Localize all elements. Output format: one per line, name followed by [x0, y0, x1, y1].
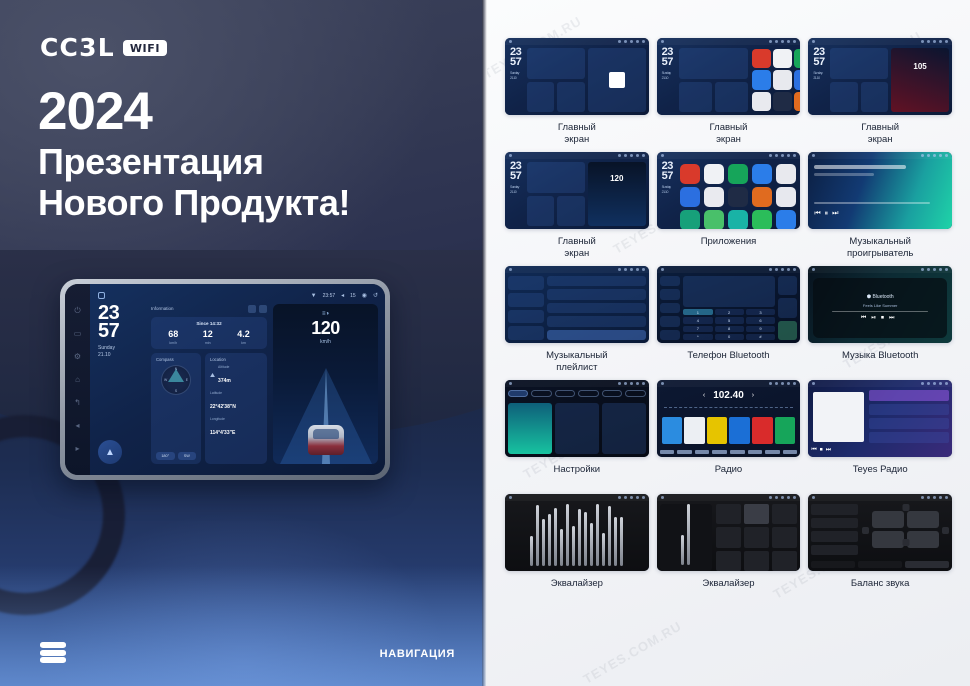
thumb-clock-hours: 23 57 Sunday21.10 [508, 162, 524, 195]
home-icon [661, 496, 664, 499]
app-icon [752, 164, 772, 184]
navigation-label: НАВИГАЦИЯ [380, 648, 455, 660]
dial-key[interactable]: 0 [715, 334, 744, 340]
eq-preset-button[interactable] [772, 551, 797, 571]
radio-frequency: 102.40 [713, 390, 744, 401]
home-button[interactable]: ⌂ [73, 375, 82, 384]
dial-key[interactable]: * [683, 334, 712, 340]
gps-icon [787, 382, 790, 385]
radio-toolbar-icon[interactable] [748, 450, 763, 454]
stat-unit: min [203, 341, 213, 345]
gallery-item[interactable]: Эквалайзер [505, 494, 649, 602]
favorites-icon[interactable] [778, 276, 797, 295]
wifi-badge: WIFI [123, 40, 167, 56]
playlist-category[interactable] [508, 310, 544, 324]
volume-icon [781, 496, 784, 499]
longitude-label: Longitude [210, 417, 262, 421]
volume-down-button[interactable]: ◂ [73, 421, 82, 430]
back-arrow-icon [642, 496, 645, 499]
settings-tab[interactable] [602, 390, 622, 397]
playlist-category[interactable] [508, 293, 544, 307]
gallery-item[interactable]: ⬢ Bluetooth Feels Like Summer ⏮⏯⏹⏭ Музык… [808, 266, 952, 374]
gallery-item[interactable]: 23 57 Sunday21.10 120 Главныйэкран [505, 152, 649, 260]
eq-tab[interactable] [811, 561, 855, 568]
wifi-icon [769, 40, 772, 43]
playback-controls[interactable]: ⏮⏯⏹⏭ [861, 315, 900, 322]
dial-key[interactable]: # [746, 334, 775, 340]
eq-preset-button[interactable] [716, 527, 741, 547]
eq-band[interactable] [554, 508, 557, 566]
thumb-clock-sub: Sunday21.10 [813, 71, 827, 81]
clock-icon [927, 268, 930, 271]
wifi-tile[interactable] [508, 403, 552, 454]
gps-icon [636, 154, 639, 157]
stat-value: 12 [203, 330, 213, 339]
eq-preset-button[interactable] [772, 527, 797, 547]
gallery-item[interactable]: Настройки [505, 380, 649, 488]
equalizer-bands[interactable] [508, 504, 646, 571]
eq-band[interactable] [608, 506, 611, 566]
location-widget[interactable]: Location ⛰ Altitude 374m [205, 353, 267, 464]
dialer-side-icon[interactable] [660, 303, 681, 313]
thumb-status-bar [657, 266, 801, 273]
clock-icon [624, 154, 627, 157]
thumb-status-bar [657, 152, 801, 159]
thumb-status-bar [505, 380, 649, 387]
screenshot-thumbnail[interactable]: ‹ 102.40 › [657, 380, 801, 457]
eq-preset-button[interactable] [744, 527, 769, 547]
home-icon [509, 40, 512, 43]
app-icon [773, 92, 792, 111]
volume-icon [933, 382, 936, 385]
dialer-side-icon[interactable] [660, 316, 681, 326]
wifi-icon [769, 154, 772, 157]
thumb-clock-sub: Sunday21.10 [510, 71, 524, 81]
app-icon [773, 70, 792, 89]
gps-icon [939, 496, 942, 499]
clock-icon [775, 154, 778, 157]
app-icon [794, 92, 800, 111]
thumb-status-icons [769, 268, 796, 271]
prev-station-button[interactable]: ‹ [703, 392, 705, 399]
eq-band[interactable] [614, 517, 617, 566]
headline-line1: Презентация [38, 142, 458, 183]
settings-tab[interactable] [531, 390, 551, 397]
station-row[interactable] [869, 404, 949, 415]
gallery-item[interactable]: ⏮⏹⏭ Teyes Радио [808, 380, 952, 488]
screenshot-thumbnail[interactable]: 23 57 Sunday21.10 [657, 38, 801, 115]
gps-icon [787, 268, 790, 271]
status-bar-right: ▼ 23:57 ◂ 15 ◉ ↺ [311, 292, 378, 299]
thumb-status-icons [921, 154, 948, 157]
app-icon [728, 187, 748, 207]
playback-controls[interactable]: ⏮⏹⏭ [811, 447, 866, 454]
screenshot-thumbnail[interactable]: 23 57 Sunday21.10 [657, 152, 801, 229]
thumb-clock: 23 57 Sunday21.10 [508, 48, 524, 112]
now-playing-bar[interactable] [547, 330, 646, 340]
gallery-item[interactable]: 23 57 Sunday21.10 105 Главныйэкран [808, 38, 952, 146]
wifi-hotspot-tile[interactable] [555, 403, 599, 454]
dial-key[interactable]: 1 [683, 309, 712, 315]
back-arrow-icon [945, 382, 948, 385]
mute-button[interactable]: ▭ [73, 329, 82, 338]
playback-controls[interactable]: ⏮⏸⏭ [814, 210, 946, 218]
back-arrow-icon [945, 268, 948, 271]
gallery-item[interactable]: Баланс звука [808, 494, 952, 602]
location-title: Location [210, 357, 262, 362]
home-icon [661, 382, 664, 385]
progress-bar[interactable] [814, 202, 930, 204]
eq-band[interactable] [578, 509, 581, 565]
thumbnail-caption: Приложения [701, 236, 757, 260]
bt-track: Feels Like Summer [863, 303, 897, 308]
clock-icon [775, 268, 778, 271]
volume-icon [630, 382, 633, 385]
eq-preset-button[interactable] [744, 504, 769, 524]
dialer-side-icon[interactable] [660, 289, 681, 299]
radio-toolbar-icon[interactable] [730, 450, 745, 454]
home-icon [812, 154, 815, 157]
back-arrow-icon [945, 40, 948, 43]
playlist-category[interactable] [508, 276, 544, 290]
dialer-number-field[interactable] [683, 276, 775, 307]
back-arrow-icon [793, 154, 796, 157]
eq-tab[interactable] [905, 561, 949, 568]
screenshot-thumbnail[interactable]: 23 57 Sunday21.10 [505, 38, 649, 115]
compass-dial: N E S W [161, 365, 191, 395]
balance-up-button[interactable] [902, 504, 909, 511]
altitude-value: 374m [218, 378, 231, 384]
station-preset[interactable] [684, 417, 705, 444]
wifi-icon [618, 154, 621, 157]
gallery-item[interactable]: Эквалайзер [657, 494, 801, 602]
screenshot-thumbnail[interactable] [505, 494, 649, 571]
compass-widget[interactable]: Compass N E S W 180° [151, 353, 201, 464]
gallery-item[interactable]: ‹ 102.40 › Радио [657, 380, 801, 488]
station-preset[interactable] [775, 417, 796, 444]
head-unit-display[interactable]: ▼ 23:57 ◂ 15 ◉ ↺ 23 57 Sunday [90, 284, 385, 475]
home-icon [812, 496, 815, 499]
eq-band[interactable] [590, 523, 593, 566]
eq-band[interactable] [681, 535, 684, 565]
eq-band[interactable] [548, 514, 551, 566]
balance-preset[interactable] [811, 504, 858, 515]
playlist-track-row[interactable] [547, 276, 646, 286]
station-preset[interactable] [707, 417, 728, 444]
home-icon [661, 154, 664, 157]
radio-toolbar-icon[interactable] [712, 450, 727, 454]
balance-preset[interactable] [811, 518, 858, 529]
sync-contacts-icon[interactable] [778, 298, 797, 317]
dial-key[interactable]: 9 [746, 326, 775, 332]
hero-panel: CC3L WIFI 2024 Презентация Нового Продук… [0, 0, 487, 686]
clock-icon [624, 496, 627, 499]
app-icon [794, 49, 800, 68]
station-preset[interactable] [729, 417, 750, 444]
navigation-arrow-icon[interactable]: ▲ [98, 440, 122, 464]
playlist-track-row[interactable] [547, 303, 646, 313]
gps-icon [939, 40, 942, 43]
compass-readouts: 180° SW [156, 452, 196, 460]
thumb-status-icons [921, 496, 948, 499]
station-preset[interactable] [752, 417, 773, 444]
screenshot-thumbnail[interactable]: ⏮⏸⏭ [808, 152, 952, 229]
dialer-side-icon[interactable] [660, 330, 681, 340]
thumbnail-caption: Радио [715, 464, 742, 488]
screenshot-thumbnail[interactable]: 23 57 Sunday21.10 105 [808, 38, 952, 115]
dial-key[interactable]: 2 [715, 309, 744, 315]
thumbnail-caption: Настройки [554, 464, 601, 488]
station-row[interactable] [869, 432, 949, 443]
thumb-status-icons [769, 154, 796, 157]
app-icon [680, 187, 700, 207]
call-button[interactable] [778, 321, 797, 340]
gallery-item[interactable]: 23 57 Sunday21.10 Главныйэкран [657, 38, 801, 146]
settings-tab[interactable] [578, 390, 598, 397]
dial-key[interactable]: 3 [746, 309, 775, 315]
thumbnail-caption: Главныйэкран [558, 122, 596, 146]
screenshot-thumbnail[interactable]: 23 57 Sunday21.10 120 [505, 152, 649, 229]
dial-key[interactable]: 8 [715, 326, 744, 332]
app-icon [773, 49, 792, 68]
eq-band[interactable] [566, 504, 569, 566]
clock-widget[interactable]: 23 57 Sunday 21.10 ▲ [98, 304, 145, 464]
track-title [814, 165, 906, 169]
settings-tab[interactable] [508, 390, 528, 397]
clock-icon [775, 382, 778, 385]
app-icon [776, 187, 796, 207]
eq-band[interactable] [572, 526, 575, 566]
eq-band[interactable] [542, 519, 545, 565]
trip-info-card[interactable]: Since 14:32 68 km/h 12 min [151, 317, 267, 349]
thumb-status-icons [618, 268, 645, 271]
logo-text: CC3L [40, 33, 115, 62]
thumbnail-grid: 23 57 Sunday21.10 Главныйэкран 23 57 Sun… [505, 38, 952, 602]
settings-tab[interactable] [625, 390, 645, 397]
radio-toolbar-icon[interactable] [695, 450, 710, 454]
app-icon [728, 164, 748, 184]
altitude-row: ⛰ Altitude 374m [210, 365, 262, 387]
thumbnail-caption: Музыкальныйплейлист [546, 350, 607, 374]
wifi-icon [921, 154, 924, 157]
radio-toolbar-icon[interactable] [660, 450, 675, 454]
station-row[interactable] [869, 390, 949, 401]
speaker-icon [872, 511, 904, 528]
eq-preset-button[interactable] [744, 551, 769, 571]
clock-icon [624, 382, 627, 385]
power-button[interactable]: ⏻ [73, 306, 82, 315]
gallery-item[interactable]: 23 57 Sunday21.10 Главныйэкран [505, 38, 649, 146]
more-tile[interactable] [602, 403, 646, 454]
compass-north-label: N [175, 367, 177, 371]
thumbnail-caption: Музыкальныйпроигрыватель [847, 236, 913, 260]
information-header: Information [151, 304, 267, 313]
station-preset[interactable] [662, 417, 683, 444]
dialer-side-icon[interactable] [660, 276, 681, 286]
watermark: TEYES.COM.RU [581, 618, 685, 686]
gallery-item[interactable]: 23 57 Sunday21.10 Приложения [657, 152, 801, 260]
eq-band[interactable] [620, 517, 623, 566]
dial-key[interactable]: 5 [715, 317, 744, 323]
wifi-icon [769, 496, 772, 499]
clock-icon [775, 496, 778, 499]
track-artist [814, 173, 873, 176]
balance-left-button[interactable] [862, 527, 869, 534]
expand-icon[interactable] [259, 305, 267, 313]
thumb-app-grid [679, 162, 798, 226]
screenshot-thumbnail[interactable]: ⬢ Bluetooth Feels Like Summer ⏮⏯⏹⏭ [808, 266, 952, 343]
thumb-status-bar [808, 494, 952, 501]
speaker-icon [872, 531, 904, 548]
eq-band[interactable] [584, 512, 587, 566]
playlist-track-row[interactable] [547, 316, 646, 326]
thumb-status-icons [769, 382, 796, 385]
gps-icon [636, 382, 639, 385]
thumb-status-icons [921, 40, 948, 43]
volume-icon [933, 40, 936, 43]
clock-icon [624, 40, 627, 43]
thumbnail-caption: Эквалайзер [551, 578, 603, 602]
thumbnail-caption: Баланс звука [851, 578, 910, 602]
home-icon [661, 268, 664, 271]
screenshot-thumbnail[interactable]: 1 2 3 4 5 6 7 8 9 * 0 # [657, 266, 801, 343]
screenshot-thumbnail[interactable]: ⏮⏹⏭ [808, 380, 952, 457]
back-arrow-icon [793, 496, 796, 499]
stat-unit: km [237, 341, 250, 345]
status-bar: ▼ 23:57 ◂ 15 ◉ ↺ [98, 290, 378, 301]
eq-band[interactable] [602, 533, 605, 566]
volume-icon [630, 154, 633, 157]
eq-band[interactable] [536, 505, 539, 566]
volume-icon [933, 496, 936, 499]
balance-down-button[interactable] [902, 539, 909, 546]
speaker-icon [907, 511, 939, 528]
home-icon [812, 382, 815, 385]
headline-line2: Нового Продукта! [38, 183, 458, 224]
wifi-icon [618, 268, 621, 271]
next-station-button[interactable]: › [752, 392, 754, 399]
station-row[interactable] [869, 418, 949, 429]
radio-toolbar-icon[interactable] [765, 450, 780, 454]
wifi-icon [618, 496, 621, 499]
playlist-track-row[interactable] [547, 289, 646, 299]
thumb-status-bar [808, 266, 952, 273]
balance-preset[interactable] [811, 531, 858, 542]
eq-band[interactable] [560, 529, 563, 566]
balance-right-button[interactable] [942, 527, 949, 534]
thumbnail-caption: Телефон Bluetooth [687, 350, 769, 374]
thumb-status-bar [657, 38, 801, 45]
thumb-clock: 23 57 Sunday21.10 [660, 48, 676, 112]
clock-icon [775, 40, 778, 43]
clock-icon [927, 496, 930, 499]
trip-stat: 68 km/h [168, 330, 178, 345]
wifi-icon [921, 268, 924, 271]
thumb-status-bar [808, 380, 952, 387]
dial-key[interactable]: 4 [683, 317, 712, 323]
compass-west-label: W [164, 378, 167, 382]
home-icon[interactable] [98, 292, 105, 299]
gallery-item[interactable]: 1 2 3 4 5 6 7 8 9 * 0 # [657, 266, 801, 374]
thumbnail-caption: Главныйэкран [861, 122, 899, 146]
bt-title: ⬢ Bluetooth [867, 294, 894, 300]
refresh-icon[interactable] [248, 305, 256, 313]
app-icon [680, 210, 700, 229]
eq-preset-button[interactable] [716, 504, 741, 524]
thumb-status-bar [505, 38, 649, 45]
gallery-item[interactable]: ⏮⏸⏭ Музыкальныйпроигрыватель [808, 152, 952, 260]
information-actions[interactable] [248, 305, 267, 313]
gear-button[interactable]: ⚙ [73, 352, 82, 361]
app-icon [680, 164, 700, 184]
dial-key[interactable]: 7 [683, 326, 712, 332]
settings-tab[interactable] [555, 390, 575, 397]
wifi-icon [769, 268, 772, 271]
volume-icon: ◂ [341, 292, 344, 299]
eq-band[interactable] [530, 536, 533, 566]
volume-up-button[interactable]: ▸ [73, 444, 82, 453]
home-icon [812, 40, 815, 43]
thumbnail-caption: Эквалайзер [702, 578, 754, 602]
status-time: 23:57 [323, 293, 336, 299]
volume-icon [630, 496, 633, 499]
car-window [313, 429, 339, 439]
compass-south-label: S [175, 389, 177, 393]
back-arrow-icon[interactable]: ↺ [373, 292, 378, 299]
thumb-clock: 23 57 Sunday21.10 [508, 162, 524, 226]
clock-icon [927, 40, 930, 43]
gallery-item[interactable]: Музыкальныйплейлист [505, 266, 649, 374]
back-button[interactable]: ↰ [73, 398, 82, 407]
equalizer-sliders[interactable] [660, 504, 712, 571]
speed-navigation-widget[interactable]: ≡◑ 120 km/h [273, 304, 378, 464]
thumb-clock-hours: 23 57 Sunday21.10 [508, 48, 524, 81]
tuner-scale[interactable] [664, 407, 794, 411]
volume-icon [781, 268, 784, 271]
thumb-speed-value: 105 [891, 62, 949, 71]
eq-tab[interactable] [858, 561, 902, 568]
radio-toolbar-icon[interactable] [783, 450, 798, 454]
playlist-category[interactable] [508, 326, 544, 340]
dial-key[interactable]: 6 [746, 317, 775, 323]
eq-preset-button[interactable] [716, 551, 741, 571]
headline-block: 2024 Презентация Нового Продукта! [38, 85, 458, 223]
app-icon [752, 210, 772, 229]
balance-preset[interactable] [811, 545, 858, 556]
screenshot-thumbnail[interactable] [808, 494, 952, 571]
eq-band[interactable] [596, 504, 599, 566]
mountain-icon: ⛰ [210, 373, 215, 380]
thumb-status-icons [618, 40, 645, 43]
clock-icon [624, 268, 627, 271]
clock-icon [927, 382, 930, 385]
eq-band[interactable] [687, 504, 690, 565]
compass-direction: SW [178, 452, 197, 460]
screenshot-thumbnail[interactable] [505, 380, 649, 457]
radio-toolbar-icon[interactable] [677, 450, 692, 454]
eq-preset-button[interactable] [772, 504, 797, 524]
progress-bar[interactable] [832, 311, 928, 313]
wifi-icon [618, 40, 621, 43]
app-icon [704, 210, 724, 229]
screenshot-thumbnail[interactable] [657, 494, 801, 571]
back-arrow-icon [945, 496, 948, 499]
gps-icon [939, 154, 942, 157]
hardware-button-strip[interactable]: ⏻ ▭ ⚙ ⌂ ↰ ◂ ▸ [65, 284, 90, 475]
gps-icon [939, 382, 942, 385]
screenshot-thumbnail[interactable] [505, 266, 649, 343]
thumbnail-caption: Главныйэкран [710, 122, 748, 146]
